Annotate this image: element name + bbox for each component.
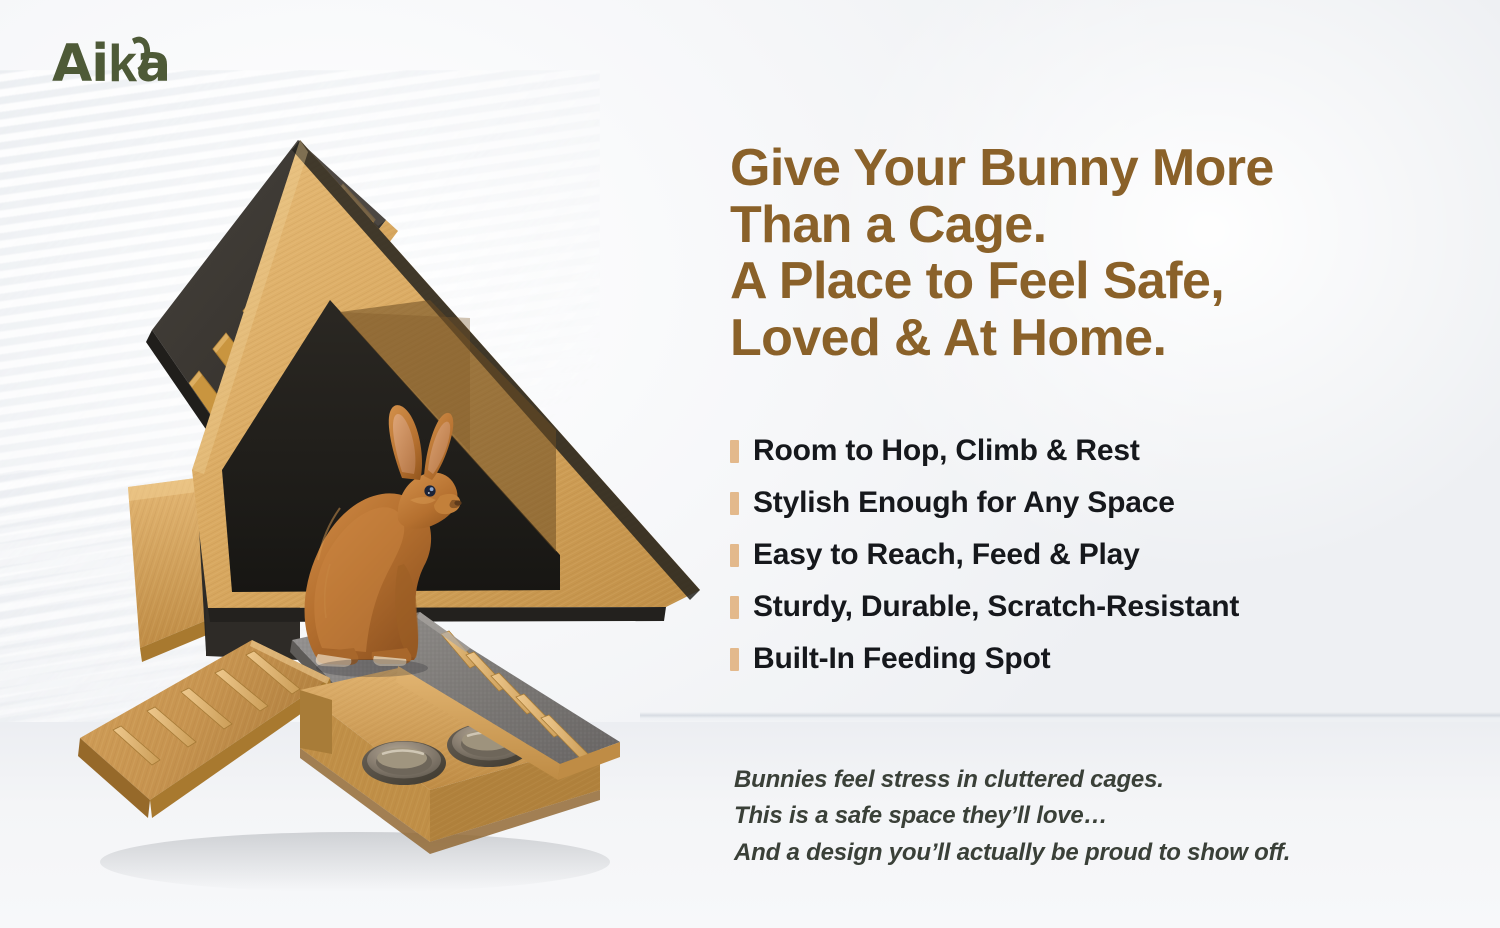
benefits-list: Room to Hop, Climb & Rest Stylish Enough… — [730, 425, 1390, 685]
benefit-label: Sturdy, Durable, Scratch-Resistant — [753, 590, 1239, 624]
benefit-item: Easy to Reach, Feed & Play — [730, 529, 1390, 581]
benefit-label: Stylish Enough for Any Space — [753, 486, 1175, 520]
closing-copy: Bunnies feel stress in cluttered cages. … — [734, 762, 1414, 871]
bullet-marker-icon — [730, 596, 739, 619]
bullet-marker-icon — [730, 544, 739, 567]
product-marketing-banner: Aika Aika — [0, 0, 1500, 928]
benefit-label: Easy to Reach, Feed & Play — [753, 538, 1140, 572]
headline-line-4: Loved & At Home. — [730, 310, 1430, 367]
benefit-item: Built-In Feeding Spot — [730, 633, 1390, 685]
headline-line-1: Give Your Bunny More — [730, 140, 1430, 197]
bullet-marker-icon — [730, 492, 739, 515]
closing-line-3: And a design you’ll actually be proud to… — [734, 835, 1414, 871]
benefit-item: Room to Hop, Climb & Rest — [730, 425, 1390, 477]
headline-line-3: A Place to Feel Safe, — [730, 253, 1430, 310]
benefit-label: Built-In Feeding Spot — [753, 642, 1050, 676]
bullet-marker-icon — [730, 648, 739, 671]
rabbit-contact-shadow — [316, 659, 428, 677]
closing-line-1: Bunnies feel stress in cluttered cages. — [734, 762, 1414, 798]
background-baseboard-line — [640, 712, 1500, 722]
rabbit-eye — [424, 485, 435, 496]
benefit-item: Stylish Enough for Any Space — [730, 477, 1390, 529]
benefit-label: Room to Hop, Climb & Rest — [753, 434, 1140, 468]
product-ground-shadow — [100, 832, 610, 892]
page-headline: Give Your Bunny More Than a Cage. A Plac… — [730, 140, 1430, 367]
headline-line-2: Than a Cage. — [730, 197, 1430, 254]
left-climbing-ramp — [78, 640, 332, 818]
closing-line-2: This is a safe space they’ll love… — [734, 798, 1414, 834]
product-photo — [0, 0, 760, 928]
feeding-bowl-left — [362, 741, 446, 785]
bullet-marker-icon — [730, 440, 739, 463]
benefit-item: Sturdy, Durable, Scratch-Resistant — [730, 581, 1390, 633]
